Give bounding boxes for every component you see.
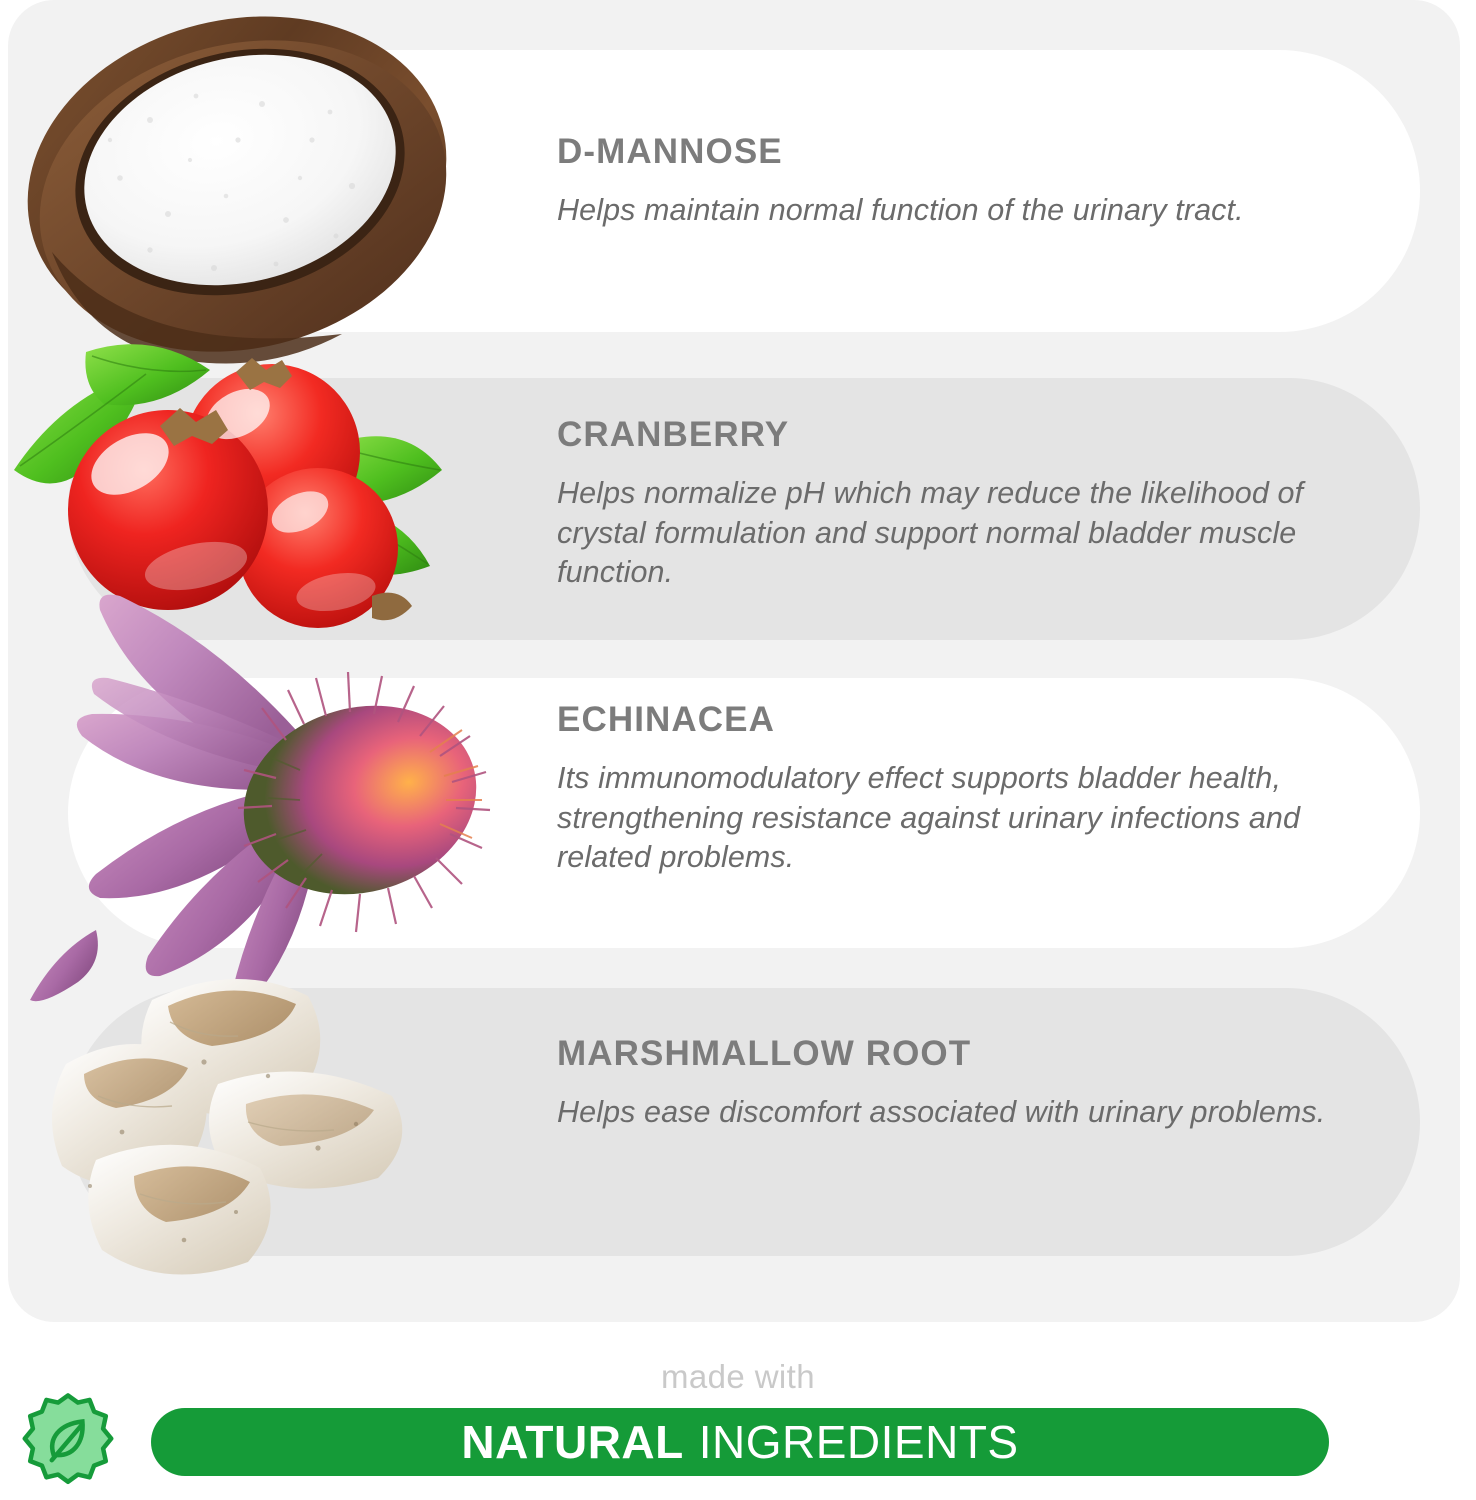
card-body: CRANBERRY Helps normalize pH which may r… [557, 417, 1330, 593]
natural-ingredients-banner[interactable]: NATURAL INGREDIENTS [151, 1408, 1329, 1476]
ingredient-title: D-MANNOSE [557, 134, 1330, 169]
ingredient-description: Its immunomodulatory effect supports bla… [557, 759, 1330, 878]
footer: made with NATURAL INGREDIENTS [0, 1330, 1476, 1500]
card-body: D-MANNOSE Helps maintain normal function… [557, 134, 1330, 231]
ingredients-label: INGREDIENTS [699, 1415, 1019, 1469]
ingredient-title: MARSHMALLOW ROOT [557, 1036, 1330, 1071]
made-with-label: made with [0, 1358, 1476, 1396]
ingredient-card-d-mannose[interactable]: D-MANNOSE Helps maintain normal function… [68, 50, 1420, 332]
ingredient-description: Helps maintain normal function of the ur… [557, 191, 1330, 231]
card-body: MARSHMALLOW ROOT Helps ease discomfort a… [557, 1036, 1330, 1133]
ingredient-card-marshmallow-root[interactable]: MARSHMALLOW ROOT Helps ease discomfort a… [68, 988, 1420, 1256]
natural-label: NATURAL [461, 1415, 683, 1469]
ingredient-title: ECHINACEA [557, 702, 1330, 737]
ingredient-card-echinacea[interactable]: ECHINACEA Its immunomodulatory effect su… [68, 678, 1420, 948]
leaf-badge-icon [14, 1390, 122, 1498]
ingredient-description: Helps ease discomfort associated with ur… [557, 1093, 1330, 1133]
ingredient-card-cranberry[interactable]: CRANBERRY Helps normalize pH which may r… [68, 378, 1420, 640]
ingredient-description: Helps normalize pH which may reduce the … [557, 474, 1330, 593]
card-body: ECHINACEA Its immunomodulatory effect su… [557, 702, 1330, 878]
ingredient-title: CRANBERRY [557, 417, 1330, 452]
